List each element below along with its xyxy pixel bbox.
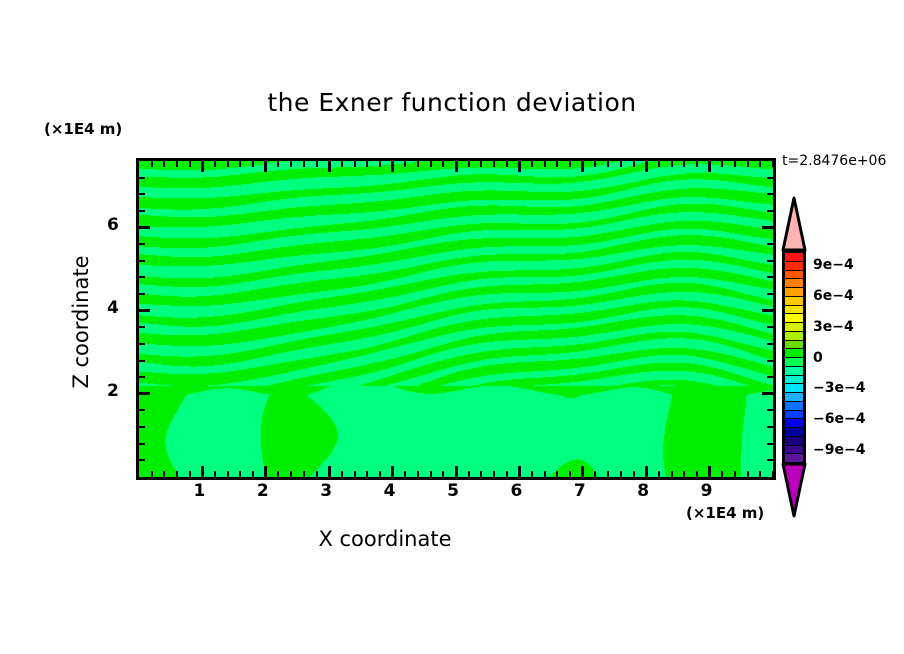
y-tick [139, 376, 145, 378]
colorbar-tick-label: −9e−4 [813, 442, 865, 458]
x-tick [480, 471, 482, 477]
x-tick-label: 1 [193, 481, 205, 501]
x-tick-top [239, 161, 241, 167]
contour-field [139, 161, 773, 477]
x-tick [594, 471, 596, 477]
y-tick-right [762, 226, 773, 229]
x-tick [442, 471, 444, 477]
page-title: the Exner function deviation [0, 88, 904, 117]
x-tick-top [468, 161, 470, 167]
colorbar-under-arrow-icon [781, 462, 807, 518]
x-tick [417, 471, 419, 477]
colorbar-segment [785, 393, 803, 402]
colorbar-segment [785, 297, 803, 306]
colorbar-segment [785, 271, 803, 280]
x-tick [366, 471, 368, 477]
x-tick-top [391, 161, 394, 172]
y-tick-label: 2 [107, 381, 119, 401]
x-tick-top [430, 161, 432, 167]
x-tick-top [734, 161, 736, 167]
y-tick [139, 309, 150, 312]
colorbar-tick-label: 6e−4 [813, 288, 854, 304]
x-tick [277, 471, 279, 477]
y-tick-right [767, 177, 773, 179]
x-tick-label: 6 [510, 481, 522, 501]
y-tick-right [767, 293, 773, 295]
colorbar-tick-label: −6e−4 [813, 411, 865, 427]
x-tick [734, 471, 736, 477]
y-tick-right [767, 276, 773, 278]
x-tick-top [264, 161, 267, 172]
x-tick-top [759, 161, 761, 167]
x-tick [620, 471, 622, 477]
x-tick [683, 471, 685, 477]
x-tick [455, 466, 458, 477]
x-tick-top [189, 161, 191, 167]
x-tick [151, 471, 153, 477]
x-tick-label: 2 [257, 481, 269, 501]
x-tick-top [696, 161, 698, 167]
x-tick-top [277, 161, 279, 167]
y-tick [139, 260, 145, 262]
x-tick [303, 471, 305, 477]
y-tick [139, 443, 145, 445]
colorbar [779, 196, 813, 518]
y-tick-right [767, 409, 773, 411]
y-tick-right [767, 243, 773, 245]
x-tick [227, 471, 229, 477]
x-tick-label: 9 [701, 481, 713, 501]
x-tick-top [708, 161, 711, 172]
x-tick-top [645, 161, 648, 172]
x-tick [404, 471, 406, 477]
x-tick-top [227, 161, 229, 167]
x-tick [201, 466, 204, 477]
y-tick-right [767, 360, 773, 362]
y-tick-right [767, 193, 773, 195]
y-tick [139, 276, 145, 278]
colorbar-segment [785, 323, 803, 332]
y-tick [139, 343, 145, 345]
x-tick-top [303, 161, 305, 167]
x-tick-top [404, 161, 406, 167]
x-tick-top [354, 161, 356, 167]
x-tick-top [658, 161, 660, 167]
x-tick-top [442, 161, 444, 167]
x-tick [379, 471, 381, 477]
y-tick-right [767, 426, 773, 428]
x-tick-top [201, 161, 204, 172]
y-tick [139, 293, 145, 295]
x-tick-top [328, 161, 331, 172]
x-tick-top [594, 161, 596, 167]
x-tick-top [316, 161, 318, 167]
x-tick [658, 471, 660, 477]
x-tick [264, 466, 267, 477]
x-tick-label: 8 [637, 481, 649, 501]
x-tick-top [151, 161, 153, 167]
colorbar-segment [785, 349, 803, 358]
x-tick-top [581, 161, 584, 172]
x-tick-top [747, 161, 749, 167]
colorbar-segment [785, 332, 803, 341]
colorbar-segment [785, 454, 803, 462]
x-tick [759, 471, 761, 477]
colorbar-segment [785, 253, 803, 262]
x-tick-label: 3 [320, 481, 332, 501]
x-tick [316, 471, 318, 477]
x-tick [354, 471, 356, 477]
timestamp-label: t=2.8476e+06 [782, 153, 886, 169]
y-tick-right [767, 376, 773, 378]
y-tick-right [767, 443, 773, 445]
y-tick [139, 177, 145, 179]
x-tick-top [671, 161, 673, 167]
y-tick-right [767, 343, 773, 345]
colorbar-tick-label: 9e−4 [813, 257, 854, 273]
y-tick-right [762, 392, 773, 395]
colorbar-over-arrow-icon [781, 196, 807, 252]
x-tick-label: 7 [574, 481, 586, 501]
colorbar-segment [785, 279, 803, 288]
x-tick-top [480, 161, 482, 167]
x-tick-top [366, 161, 368, 167]
colorbar-segment [785, 306, 803, 315]
x-tick [252, 471, 254, 477]
x-tick [671, 471, 673, 477]
x-tick [544, 471, 546, 477]
x-tick-top [163, 161, 165, 167]
x-tick-top [455, 161, 458, 172]
y-tick [139, 392, 150, 395]
colorbar-segment [785, 367, 803, 376]
x-tick [468, 471, 470, 477]
colorbar-segment [785, 419, 803, 428]
x-tick [290, 471, 292, 477]
colorbar-segment [785, 358, 803, 367]
x-tick-top [518, 161, 521, 172]
colorbar-scale [782, 250, 806, 465]
x-tick [569, 471, 571, 477]
y-tick-label: 4 [107, 298, 119, 318]
y-tick [139, 193, 145, 195]
y-tick-right [767, 260, 773, 262]
colorbar-tick-label: −3e−4 [813, 380, 865, 396]
x-tick-top [772, 161, 774, 167]
x-tick [581, 466, 584, 477]
x-tick-top [607, 161, 609, 167]
x-tick [633, 471, 635, 477]
x-tick [696, 471, 698, 477]
x-tick [189, 471, 191, 477]
x-tick-top [556, 161, 558, 167]
colorbar-segment [785, 384, 803, 393]
x-tick-top [493, 161, 495, 167]
x-tick-label: 5 [447, 481, 459, 501]
x-tick [531, 471, 533, 477]
x-tick [391, 466, 394, 477]
x-tick-top [176, 161, 178, 167]
x-tick [772, 471, 774, 477]
x-tick-top [214, 161, 216, 167]
colorbar-segment [785, 411, 803, 420]
colorbar-segment [785, 314, 803, 323]
x-tick [721, 471, 723, 477]
y-tick [139, 243, 145, 245]
colorbar-segment [785, 437, 803, 446]
colorbar-tick-label: 3e−4 [813, 319, 854, 335]
colorbar-tick-label: 0 [813, 350, 823, 366]
x-tick [214, 471, 216, 477]
x-tick-top [290, 161, 292, 167]
x-tick [328, 466, 331, 477]
colorbar-segment [785, 288, 803, 297]
x-tick [163, 471, 165, 477]
x-tick [493, 471, 495, 477]
colorbar-segment [785, 376, 803, 385]
y-tick [139, 326, 145, 328]
colorbar-segment [785, 428, 803, 437]
x-tick-top [633, 161, 635, 167]
x-tick-top [252, 161, 254, 167]
x-tick-label: 4 [384, 481, 396, 501]
x-axis-title: X coordinate [0, 527, 770, 551]
y-tick-right [767, 459, 773, 461]
y-axis-title: Z coordinate [69, 222, 93, 422]
plot-area [136, 158, 776, 480]
y-tick [139, 226, 150, 229]
x-tick-top [379, 161, 381, 167]
x-tick-top [620, 161, 622, 167]
x-tick-top [531, 161, 533, 167]
y-tick [139, 409, 145, 411]
y-tick [139, 459, 145, 461]
x-tick-top [721, 161, 723, 167]
y-tick-right [767, 210, 773, 212]
x-tick [341, 471, 343, 477]
y-tick [139, 210, 145, 212]
x-tick [518, 466, 521, 477]
x-tick-top [417, 161, 419, 167]
x-tick-top [341, 161, 343, 167]
colorbar-segment [785, 341, 803, 350]
x-tick [645, 466, 648, 477]
y-tick-label: 6 [107, 215, 119, 235]
x-axis-unit-label: (×1E4 m) [686, 504, 764, 522]
y-tick-right [762, 309, 773, 312]
contour-plot-figure: the Exner function deviation (×1E4 m) (×… [0, 0, 904, 654]
colorbar-segment [785, 262, 803, 271]
y-tick [139, 360, 145, 362]
x-tick [607, 471, 609, 477]
y-tick [139, 426, 145, 428]
colorbar-segment [785, 402, 803, 411]
y-axis-unit-label: (×1E4 m) [44, 120, 122, 138]
x-tick-top [506, 161, 508, 167]
x-tick-top [683, 161, 685, 167]
x-tick [239, 471, 241, 477]
colorbar-segment [785, 446, 803, 455]
x-tick [747, 471, 749, 477]
y-tick-right [767, 326, 773, 328]
x-tick [708, 466, 711, 477]
x-tick [556, 471, 558, 477]
x-tick [176, 471, 178, 477]
x-tick-top [544, 161, 546, 167]
x-tick-top [569, 161, 571, 167]
x-tick [430, 471, 432, 477]
x-tick [506, 471, 508, 477]
